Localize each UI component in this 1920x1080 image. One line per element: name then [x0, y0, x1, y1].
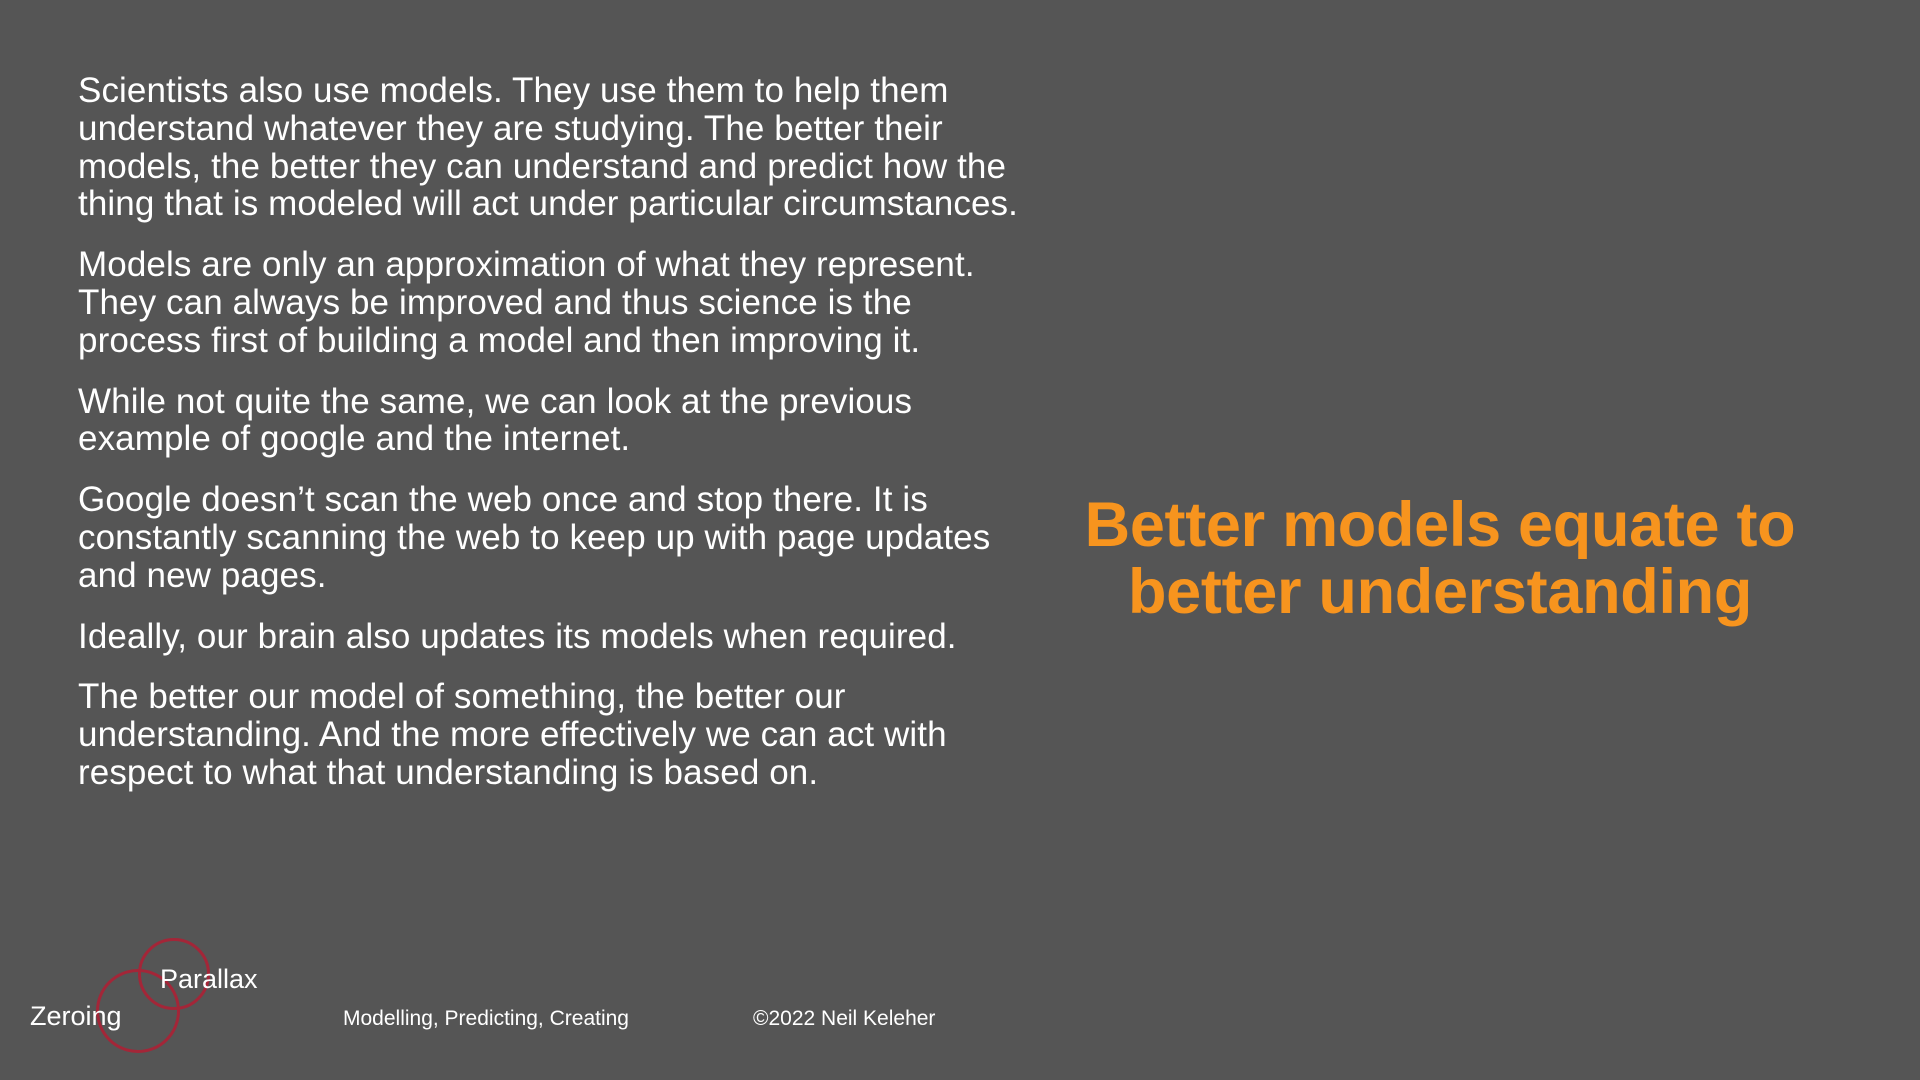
body-paragraph-3: While not quite the same, we can look at… — [78, 383, 1023, 459]
body-paragraph-1: Scientists also use models. They use the… — [78, 72, 1023, 223]
slide-headline: Better models equate to better understan… — [1005, 492, 1875, 627]
slide-footer: Parallax Zeroing Modelling, Predicting, … — [0, 920, 1920, 1080]
body-paragraph-6: The better our model of something, the b… — [78, 678, 1023, 791]
logo-word-zeroing: Zeroing — [30, 1003, 122, 1030]
logo: Parallax Zeroing — [30, 928, 300, 1058]
logo-word-parallax: Parallax — [160, 966, 258, 993]
footer-tagline: Modelling, Predicting, Creating — [343, 1008, 629, 1029]
slide-canvas: Scientists also use models. They use the… — [0, 0, 1920, 1080]
body-copy: Scientists also use models. They use the… — [78, 72, 1023, 792]
body-paragraph-2: Models are only an approximation of what… — [78, 246, 1023, 359]
footer-copyright: ©2022 Neil Keleher — [753, 1008, 935, 1029]
body-paragraph-4: Google doesn’t scan the web once and sto… — [78, 481, 1023, 594]
body-paragraph-5: Ideally, our brain also updates its mode… — [78, 618, 1023, 656]
